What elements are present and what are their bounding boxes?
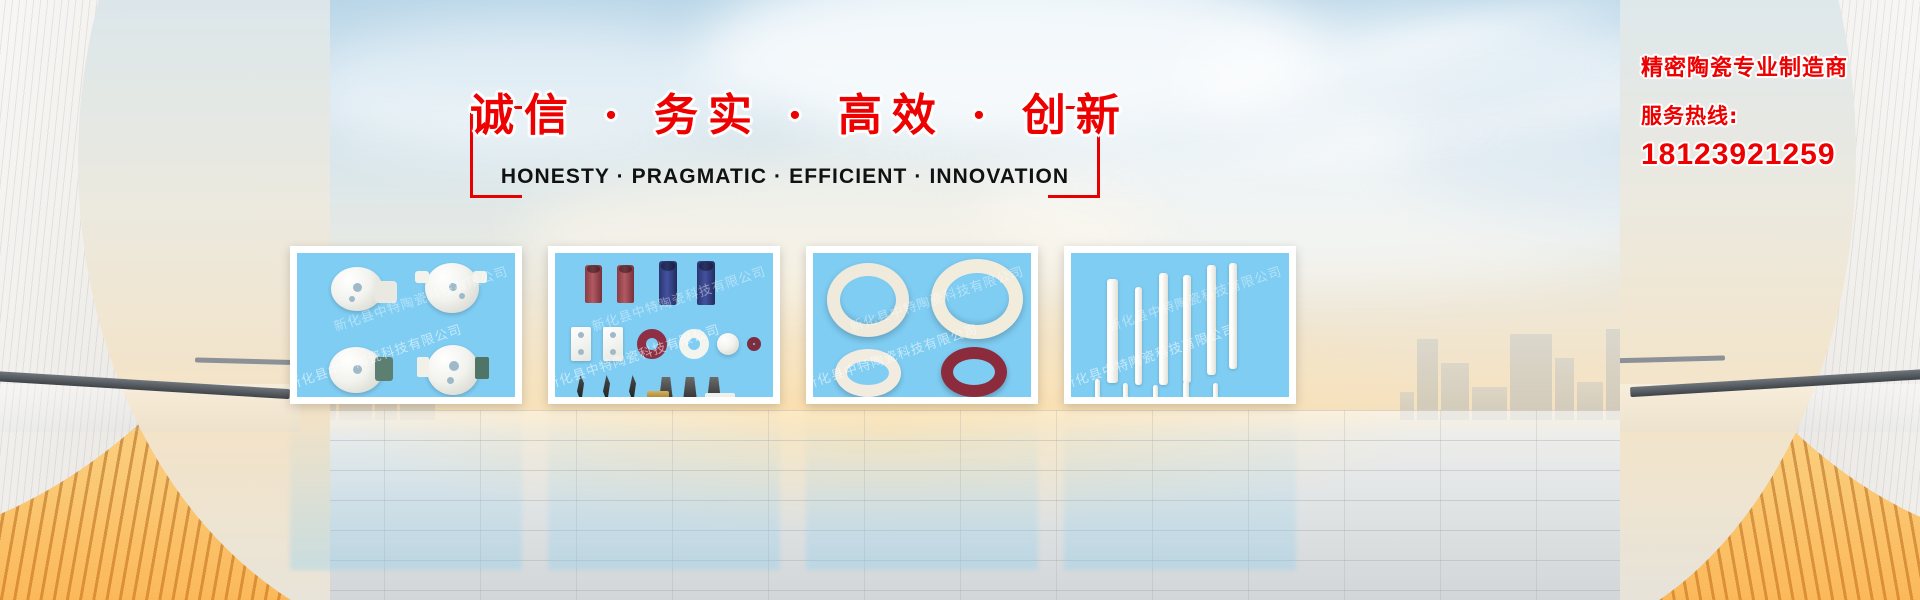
slogan-english: HONESTY · PRAGMATIC · EFFICIENT · INNOVA… xyxy=(470,166,1100,187)
ceramic-blade xyxy=(577,375,584,403)
product-panel-row: 新化县中特陶瓷科技有限公司 新化县中特陶瓷科技有限公司 xyxy=(290,246,1296,404)
slogan-chinese: 诚信 · 务实 · 高效 · 创新 xyxy=(470,94,1100,138)
ceramic-rod xyxy=(1229,263,1237,369)
ceramic-tube-red xyxy=(617,265,634,303)
hotline-label: 服务热线: xyxy=(1641,100,1848,130)
ceramic-rod xyxy=(1107,279,1118,383)
plate-hole xyxy=(578,349,584,355)
product-panel-1[interactable]: 新化县中特陶瓷科技有限公司 新化县中特陶瓷科技有限公司 xyxy=(290,246,522,404)
ceramic-ring-maroon-large xyxy=(941,347,1007,397)
ceramic-blade xyxy=(603,375,610,403)
base-tab xyxy=(417,357,429,377)
connector-brass xyxy=(647,391,669,402)
socket-tab xyxy=(415,271,429,283)
ceramic-disc xyxy=(717,333,739,355)
panel-watermark: 新化县中特陶瓷科技有限公司 xyxy=(1064,291,1296,393)
ceramic-rod-short xyxy=(1095,379,1100,401)
ceramic-nozzle xyxy=(659,377,673,401)
ceramic-plate xyxy=(571,327,591,361)
ceramic-plate xyxy=(603,327,623,361)
ceramic-rod-short xyxy=(1213,383,1218,401)
ceramic-blade xyxy=(629,375,636,403)
socket-hole xyxy=(349,296,355,302)
base-hole xyxy=(447,377,454,384)
ceramic-rod-short xyxy=(1153,385,1158,401)
ceramic-tube-red xyxy=(585,265,602,303)
ceramic-ring-large xyxy=(827,263,909,337)
ceramic-nozzle xyxy=(683,377,697,401)
panel-watermark: 新化县中特陶瓷科技有限公司 xyxy=(1105,246,1296,335)
connector-housing xyxy=(705,393,735,404)
socket-stub xyxy=(375,281,397,303)
hotline-number[interactable]: 18123921259 xyxy=(1641,138,1848,172)
ceramic-rod xyxy=(1135,287,1142,385)
slogan-block: 诚信 · 务实 · 高效 · 创新 HONESTY · PRAGMATIC · … xyxy=(470,106,1100,198)
plate-hole xyxy=(610,349,616,355)
city-skyline-right xyxy=(1400,310,1920,420)
socket-tab xyxy=(473,271,487,283)
handrail xyxy=(0,371,290,399)
product-panel-3[interactable]: 新化县中特陶瓷科技有限公司 新化县中特陶瓷科技有限公司 xyxy=(806,246,1038,404)
plate-hole xyxy=(578,332,584,338)
terminal-block xyxy=(375,357,393,381)
ceramic-lamp-base xyxy=(427,345,479,395)
wire-harness xyxy=(561,398,691,404)
cloud-shape xyxy=(1180,10,1700,160)
ceramic-ring-maroon xyxy=(637,329,667,359)
ceramic-ring-white xyxy=(679,329,709,359)
handrail-secondary xyxy=(1620,355,1725,363)
ceramic-nozzle xyxy=(707,377,721,401)
ceramic-ring-large xyxy=(931,259,1023,339)
contact-block: 精密陶瓷专业制造商 服务热线: 18123921259 xyxy=(1641,50,1848,172)
ceramic-tube-blue xyxy=(659,261,677,305)
base-hole xyxy=(353,365,362,374)
ceramic-rod xyxy=(1159,273,1168,385)
socket-hole xyxy=(449,283,457,291)
plate-hole xyxy=(610,332,616,338)
ceramic-ring-medium xyxy=(835,349,901,397)
product-panel-4[interactable]: 新化县中特陶瓷科技有限公司 新化县中特陶瓷科技有限公司 xyxy=(1064,246,1296,404)
ceramic-ring-small xyxy=(747,337,761,351)
ceramic-tube-blue xyxy=(697,261,715,305)
ceramic-rod xyxy=(1183,275,1191,383)
cloud-streak xyxy=(1155,0,1705,123)
ceramic-rod-short xyxy=(1123,383,1128,401)
ceramic-rod-short xyxy=(1183,381,1189,401)
ceramic-socket-flanged xyxy=(425,263,479,313)
socket-hole xyxy=(353,283,362,292)
product-panel-2[interactable]: 新化县中特陶瓷科技有限公司 新化县中特陶瓷科技有限公司 xyxy=(548,246,780,404)
floor-tile-grid xyxy=(0,410,1920,600)
promo-banner: 诚信 · 务实 · 高效 · 创新 HONESTY · PRAGMATIC · … xyxy=(0,0,1920,600)
socket-hole xyxy=(459,293,465,299)
ceramic-rod xyxy=(1207,265,1216,375)
handrail xyxy=(1630,369,1920,397)
terminal-block xyxy=(475,357,489,379)
base-hole xyxy=(449,361,459,371)
company-tagline: 精密陶瓷专业制造商 xyxy=(1641,50,1848,82)
